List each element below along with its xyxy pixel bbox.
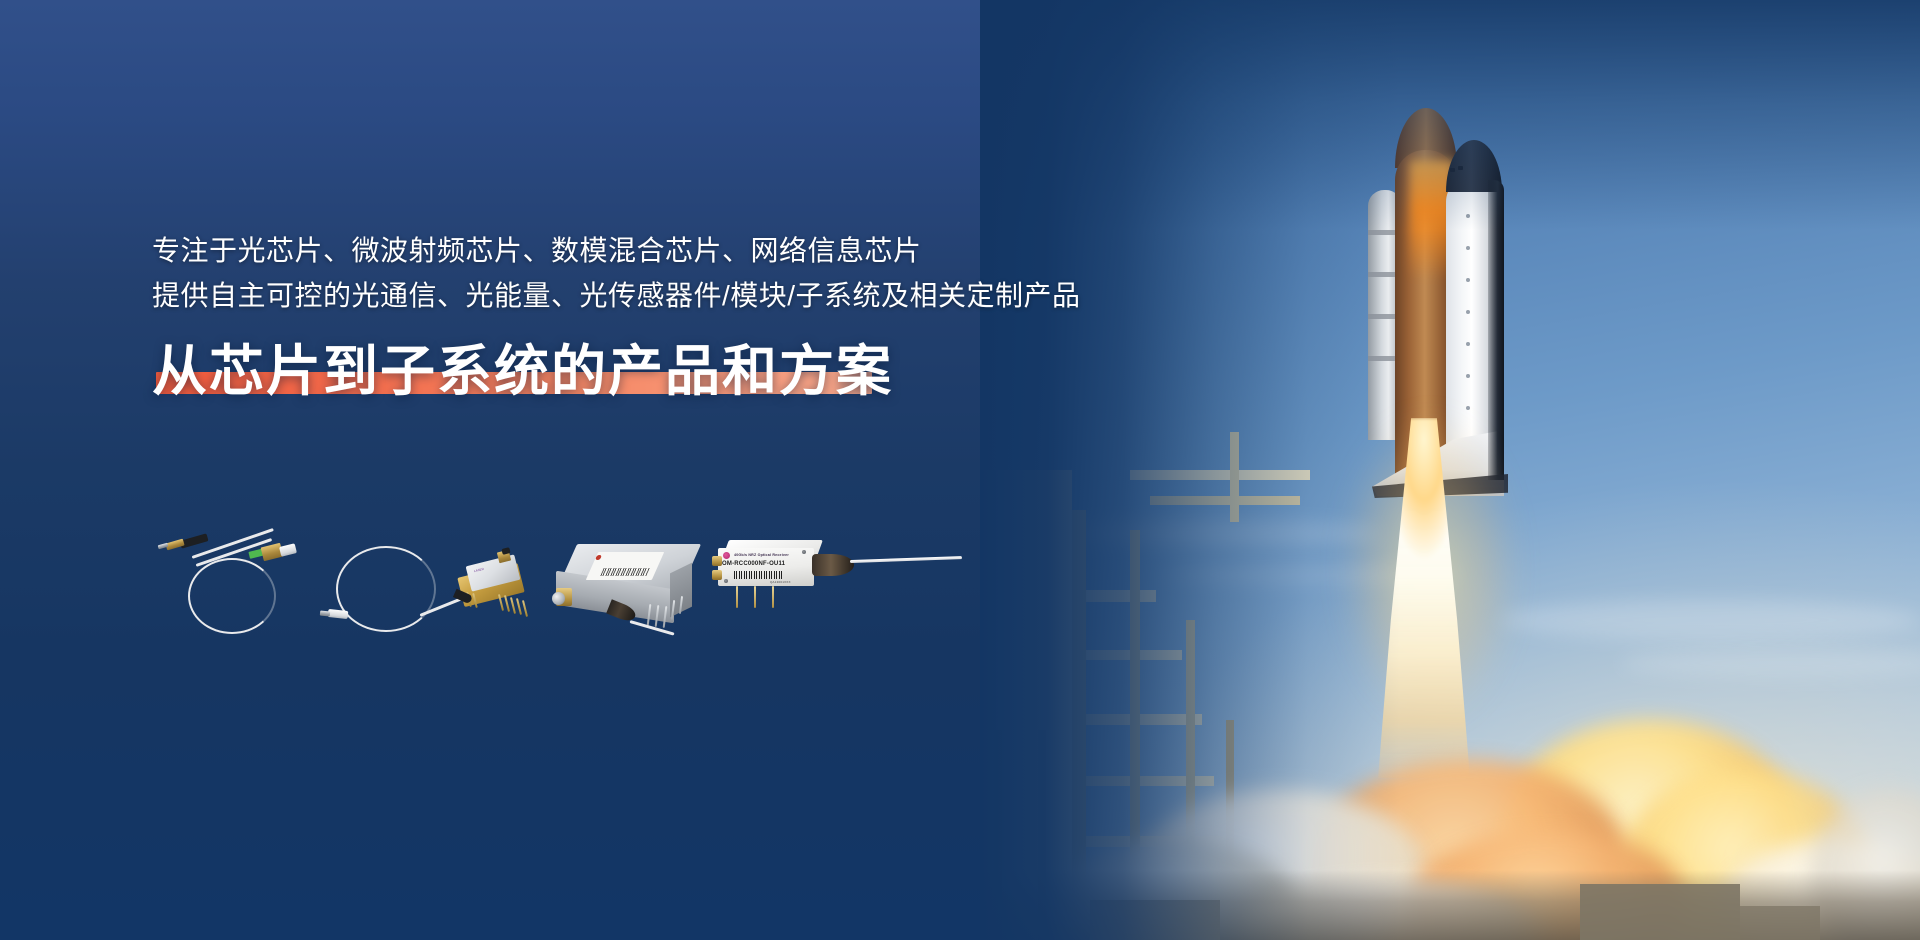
subtitle-line-2: 提供自主可控的光通信、光能量、光传感器件/模块/子系统及相关定制产品 — [152, 273, 1152, 318]
product-optical-receiver-module: 40Gb/s NRZ Optical Receiver OM-RCC000NF-… — [712, 536, 972, 640]
product-part-number: OM-RCC000NF-OU11 — [722, 561, 785, 567]
product-spec-text: 40Gb/s NRZ Optical Receiver — [734, 553, 789, 557]
subtitle-line-1: 专注于光芯片、微波射频芯片、数模混合芯片、网络信息芯片 — [152, 228, 1152, 273]
headline-wrapper: 从芯片到子系统的产品和方案 — [152, 341, 893, 403]
product-fiber-optic-pigtail-dual — [152, 530, 317, 640]
page-title: 从芯片到子系统的产品和方案 — [152, 341, 893, 403]
background-photo — [980, 0, 1920, 940]
product-image-strip: LASER — [152, 530, 952, 640]
hero-copy: 专注于光芯片、微波射频芯片、数模混合芯片、网络信息芯片 提供自主可控的光通信、光… — [152, 228, 1152, 402]
hero-banner: 专注于光芯片、微波射频芯片、数模混合芯片、网络信息芯片 提供自主可控的光通信、光… — [0, 0, 1920, 940]
receiver-optical-port — [812, 554, 854, 576]
product-brand-logo — [723, 552, 730, 559]
receiver-fiber-lead — [850, 556, 962, 563]
product-rf-metal-module — [552, 538, 712, 640]
product-barcode — [734, 571, 782, 579]
cloud-streak — [1500, 600, 1920, 640]
product-butterfly-laser-module: LASER — [448, 548, 553, 638]
product-serial: QA13001XXX — [770, 580, 791, 584]
photo-left-fade — [980, 0, 1400, 940]
